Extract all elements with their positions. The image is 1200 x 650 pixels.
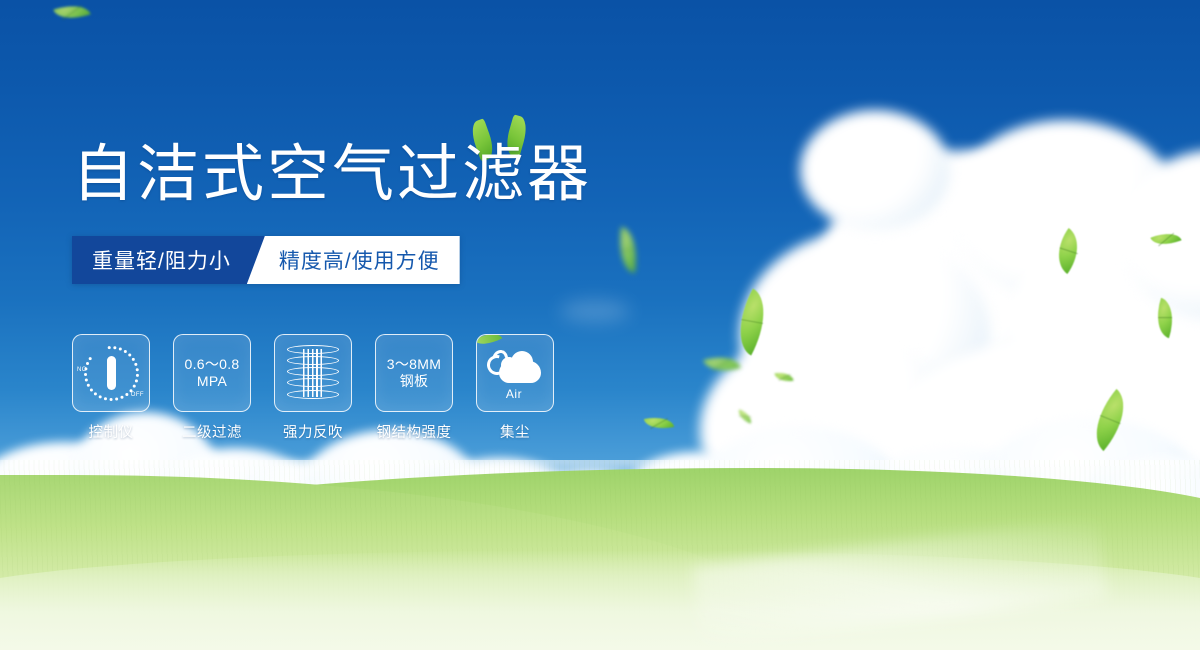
feature-item[interactable]: 3～8MM 钢板 钢结构强度 <box>375 334 453 442</box>
feature-label: 钢结构强度 <box>375 421 453 442</box>
gauge-on-label: NO <box>77 367 87 373</box>
feature-item[interactable]: Air 集尘 <box>476 334 554 442</box>
gauge-icon: NO OFF <box>81 343 141 403</box>
feature-label: 控制仪 <box>72 421 150 442</box>
feature-icon-box: NO OFF <box>72 334 150 412</box>
feature-item[interactable]: 0.6～0.8 MPA 二级过滤 <box>173 334 251 442</box>
feature-list: NO OFF 控制仪 0.6～0.8 MPA 二级过滤 <box>72 334 554 442</box>
page-title: 自洁式空气过滤器 <box>72 140 592 210</box>
subtitle-right: 精度高/使用方便 <box>247 236 460 284</box>
filter-stack-icon <box>287 345 339 401</box>
feature-label: 二级过滤 <box>173 421 251 442</box>
subtitle-left: 重量轻/阻力小 <box>72 236 265 284</box>
feature-item[interactable]: 强力反吹 <box>274 334 352 442</box>
feature-icon-box: Air <box>476 334 554 412</box>
feature-icon-box: 3～8MM 钢板 <box>375 334 453 412</box>
air-cloud-icon: Air <box>485 347 545 399</box>
subtitle-bar: 重量轻/阻力小 精度高/使用方便 <box>72 236 460 284</box>
promo-banner: 自洁式空气过滤器 重量轻/阻力小 精度高/使用方便 NO OFF 控制仪 <box>0 0 1200 650</box>
pressure-icon: 0.6～0.8 MPA <box>184 356 239 390</box>
gauge-off-label: OFF <box>131 392 144 398</box>
feature-icon-box <box>274 334 352 412</box>
air-label: Air <box>485 387 543 401</box>
steel-plate-icon: 3～8MM 钢板 <box>387 356 441 390</box>
feature-label: 强力反吹 <box>274 421 352 442</box>
feature-icon-box: 0.6～0.8 MPA <box>173 334 251 412</box>
feature-item[interactable]: NO OFF 控制仪 <box>72 334 150 442</box>
banner-content: 自洁式空气过滤器 重量轻/阻力小 精度高/使用方便 NO OFF 控制仪 <box>0 0 1200 650</box>
feature-label: 集尘 <box>476 421 554 442</box>
